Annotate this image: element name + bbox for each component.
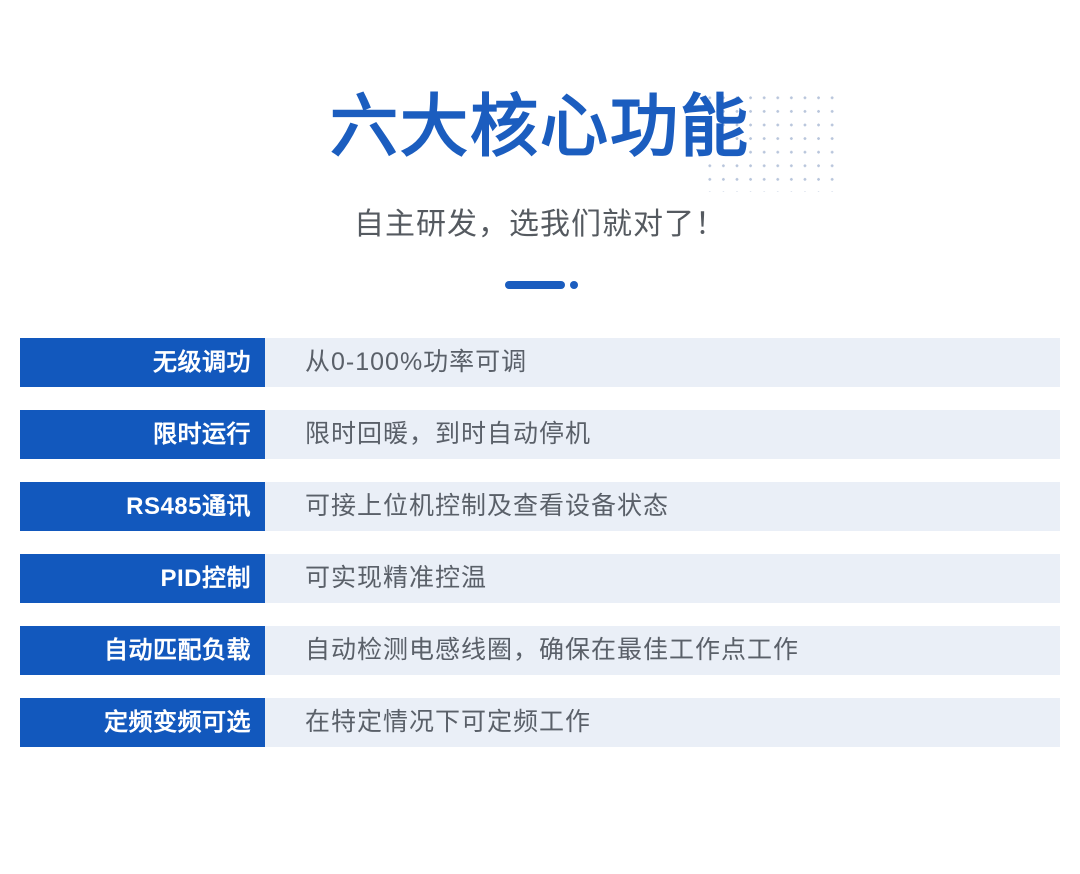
list-item: 限时运行 限时回暖，到时自动停机 [0, 410, 1080, 459]
feature-label-badge: PID控制 [20, 554, 265, 603]
feature-label-badge: 无级调功 [20, 338, 265, 387]
feature-label-badge: 定频变频可选 [20, 698, 265, 747]
feature-description: 在特定情况下可定频工作 [265, 698, 1080, 747]
divider-dot [570, 281, 578, 289]
list-item: RS485通讯 可接上位机控制及查看设备状态 [0, 482, 1080, 531]
list-item: 无级调功 从0-100%功率可调 [0, 338, 1080, 387]
feature-list: 无级调功 从0-100%功率可调 限时运行 限时回暖，到时自动停机 RS485通… [0, 338, 1080, 770]
header-section: 六大核心功能 自主研发，选我们就对了！ [0, 0, 1080, 330]
feature-highlight-page: 六大核心功能 自主研发，选我们就对了！ 无级调功 从0-100%功率可调 限时运… [0, 0, 1080, 874]
feature-description: 可接上位机控制及查看设备状态 [265, 482, 1080, 531]
feature-description: 限时回暖，到时自动停机 [265, 410, 1080, 459]
feature-description: 从0-100%功率可调 [265, 338, 1080, 387]
feature-description: 自动检测电感线圈，确保在最佳工作点工作 [265, 626, 1080, 675]
divider-bar [505, 281, 565, 289]
feature-label-badge: RS485通讯 [20, 482, 265, 531]
page-subtitle: 自主研发，选我们就对了！ [0, 203, 1080, 247]
list-item: 自动匹配负载 自动检测电感线圈，确保在最佳工作点工作 [0, 626, 1080, 675]
list-item: PID控制 可实现精准控温 [0, 554, 1080, 603]
feature-label-badge: 自动匹配负载 [20, 626, 265, 675]
feature-label-badge: 限时运行 [20, 410, 265, 459]
title-divider [0, 278, 1080, 292]
feature-description: 可实现精准控温 [265, 554, 1080, 603]
page-title: 六大核心功能 [0, 86, 1080, 168]
list-item: 定频变频可选 在特定情况下可定频工作 [0, 698, 1080, 747]
